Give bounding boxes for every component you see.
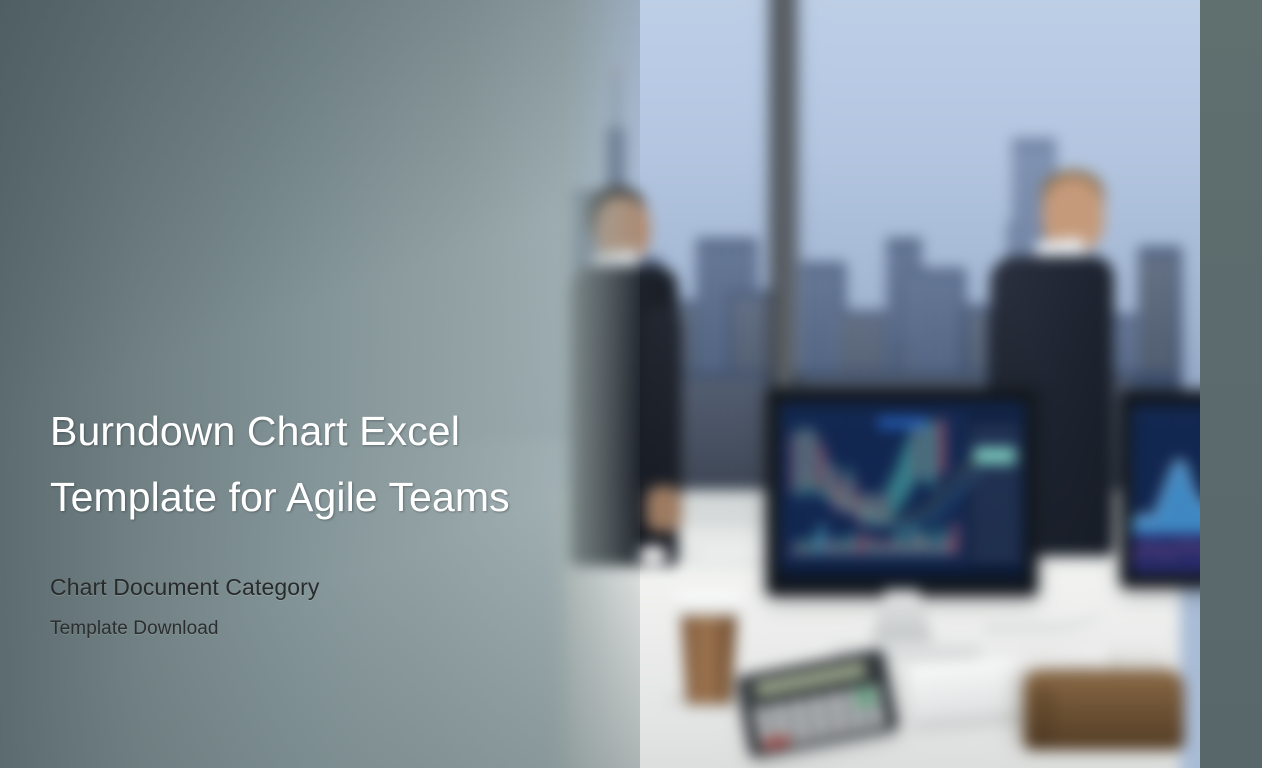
calculator-key-green [853,685,879,710]
volume-histogram [790,518,962,554]
coffee-cup-lid [674,592,744,616]
text-overlay-tone [0,0,640,768]
right-color-band [1200,0,1262,768]
imac-monitor [766,388,1038,596]
page-title-line-2: Template for Agile Teams [50,464,610,530]
coffee-cup [678,610,740,704]
area-chart [1132,402,1200,574]
second-monitor-screen [1132,402,1200,574]
imac-screen [780,400,1026,580]
slide-text-block: Burndown Chart Excel Template for Agile … [50,398,610,642]
page-title-line-1: Burndown Chart Excel [50,398,610,464]
page-subtitle: Chart Document Category [50,572,610,602]
slide-canvas: Burndown Chart Excel Template for Agile … [0,0,1262,768]
second-monitor [1120,390,1200,588]
page-meta-label: Template Download [50,616,610,642]
office-chair-arm [1030,686,1056,746]
monitor-cable [984,580,1104,630]
mouse [638,546,668,564]
